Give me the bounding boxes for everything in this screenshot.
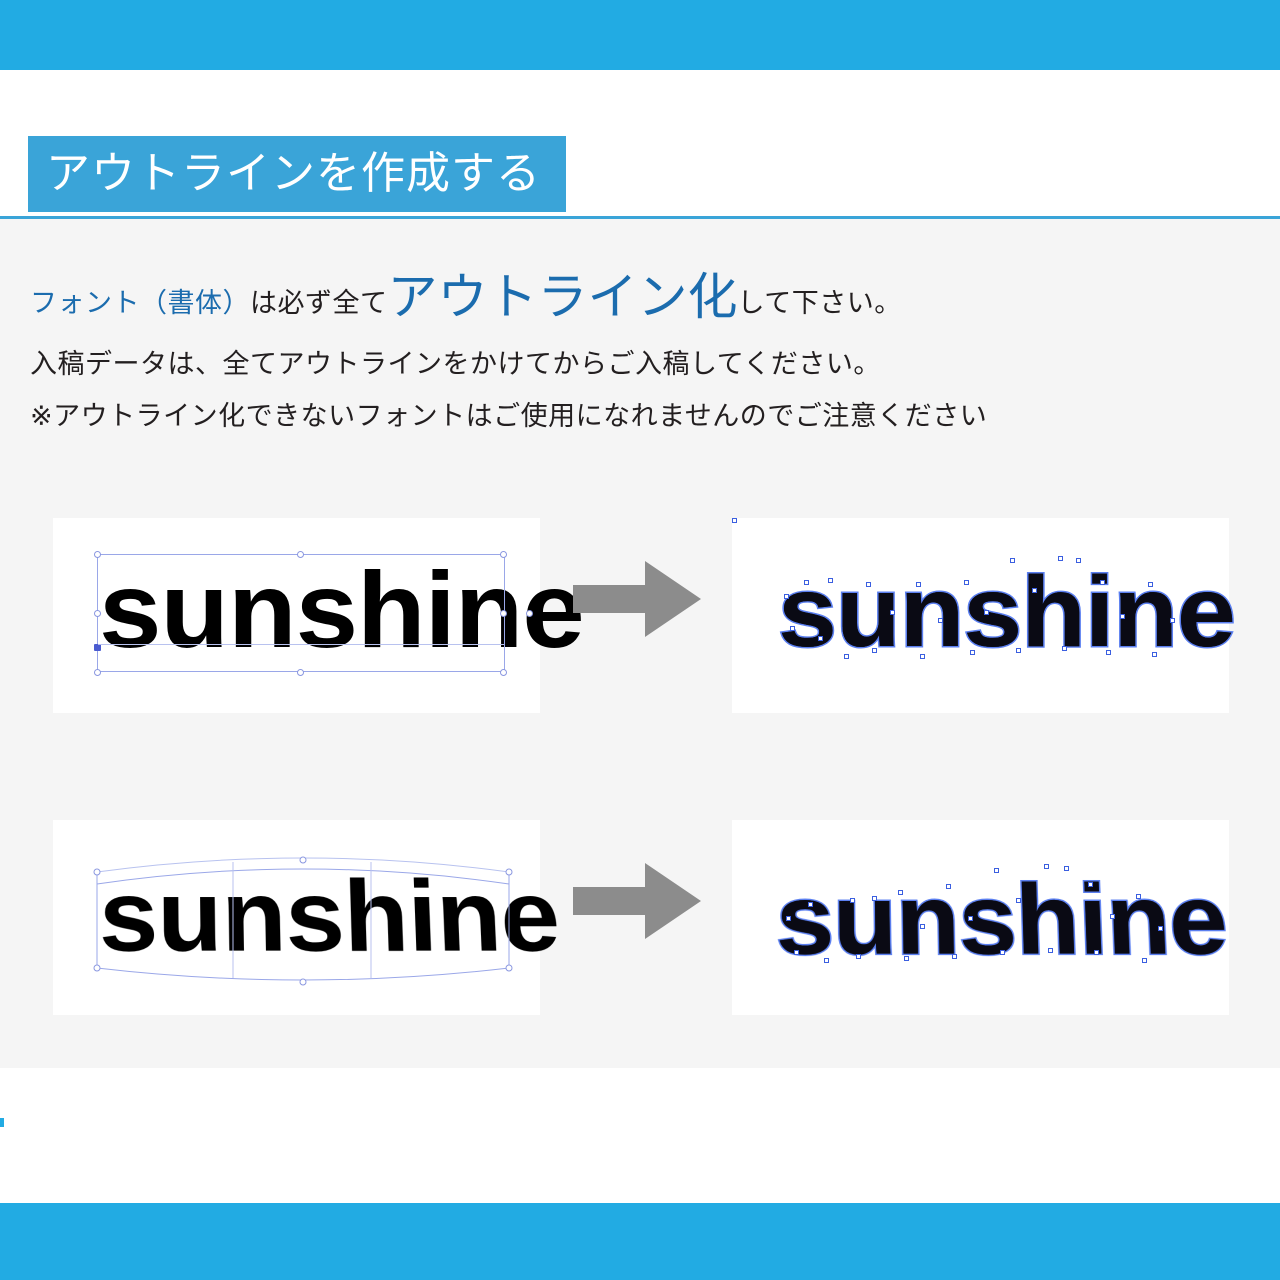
vector-anchor-point[interactable] [790,626,795,631]
selection-handle-bottom-center[interactable] [297,669,304,676]
vector-anchor-point[interactable] [818,636,823,641]
selection-handle-top-left[interactable] [94,551,101,558]
vector-anchor-point[interactable] [890,610,895,615]
selection-handle-top-center[interactable] [297,551,304,558]
vector-anchor-point[interactable] [828,578,833,583]
headline-part-1: フォント（書体） [30,281,250,320]
headline: フォント（書体） は必ず全て アウトライン化 して下さい。 [30,255,902,327]
bottom-brand-band [0,1203,1280,1280]
vector-anchor-point[interactable] [872,648,877,653]
vector-anchor-point[interactable] [946,884,951,889]
vector-anchor-point[interactable] [786,916,791,921]
selection-handle-top-right[interactable] [500,551,507,558]
content-panel: フォント（書体） は必ず全て アウトライン化 して下さい。 入稿データは、全てア… [0,219,1280,1068]
vector-anchor-point[interactable] [1076,558,1081,563]
vector-anchor-point[interactable] [1100,580,1105,585]
vector-anchor-point[interactable] [856,954,861,959]
edge-speck-artifact [0,1118,4,1127]
headline-part-4: して下さい。 [738,281,902,320]
warp-envelope-mesh[interactable] [93,850,513,990]
vector-anchor-point[interactable] [1062,646,1067,651]
example-card-row2-before: sunshine [53,820,540,1015]
vector-anchor-point[interactable] [920,924,925,929]
selection-baseline-guide [98,644,504,645]
vector-anchor-point[interactable] [1148,582,1153,587]
selection-handle-mid-far-right[interactable] [526,610,533,617]
arrow-right-icon [573,561,701,637]
top-brand-band [0,0,1280,70]
vector-anchor-point[interactable] [1000,950,1005,955]
selection-bounding-box[interactable] [97,554,505,672]
vector-anchor-point[interactable] [898,890,903,895]
vector-anchor-point[interactable] [866,582,871,587]
vector-anchor-point[interactable] [984,610,989,615]
vector-anchor-point[interactable] [920,654,925,659]
vector-anchor-point[interactable] [968,916,973,921]
vector-anchor-point[interactable] [808,902,813,907]
vector-anchor-point[interactable] [1048,948,1053,953]
vector-anchor-point[interactable] [1016,898,1021,903]
vector-anchor-point[interactable] [964,580,969,585]
selection-handle-mid-right[interactable] [500,610,507,617]
vector-anchor-point[interactable] [1044,864,1049,869]
vector-anchor-point[interactable] [1106,650,1111,655]
vector-anchor-point[interactable] [1016,648,1021,653]
vector-anchor-point[interactable] [1032,588,1037,593]
vector-anchor-point[interactable] [1064,866,1069,871]
vector-anchor-point[interactable] [1158,926,1163,931]
selection-anchor-baseline[interactable] [94,644,101,651]
vector-anchor-point[interactable] [1110,914,1115,919]
vector-anchor-point[interactable] [1010,558,1015,563]
example-card-row1-before: sunshine [53,518,540,713]
page-title: アウトラインを作成する [28,152,541,196]
vector-anchor-point[interactable] [824,958,829,963]
section-title-area: アウトラインを作成する [0,136,1280,218]
bottom-white-gap [0,1068,1280,1203]
vector-anchor-point[interactable] [904,956,909,961]
vector-anchor-point[interactable] [732,518,737,523]
body-line-2: ※アウトライン化できないフォントはご使用になれませんのでご注意ください [30,394,987,433]
vector-anchor-point[interactable] [844,654,849,659]
vector-anchor-point[interactable] [1170,618,1175,623]
vector-anchor-point[interactable] [804,580,809,585]
vector-anchor-point[interactable] [1094,950,1099,955]
vector-anchor-point[interactable] [872,896,877,901]
vector-anchor-point[interactable] [952,954,957,959]
headline-part-3: アウトライン化 [388,257,738,329]
vector-anchor-point[interactable] [970,650,975,655]
vector-anchor-point[interactable] [1152,652,1157,657]
outlined-text-group-1: sunshine sunshine [732,518,1229,713]
example-card-row1-after: sunshine sunshine [732,518,1229,713]
vector-anchor-point[interactable] [794,950,799,955]
sample-word-outlined-fill: sunshine [778,562,1235,662]
vector-anchor-point[interactable] [938,618,943,623]
vector-anchor-point[interactable] [850,898,855,903]
selection-handle-bottom-right[interactable] [500,669,507,676]
example-card-row2-after: sunshine sunshine [732,820,1229,1015]
headline-part-2: は必ず全て [250,281,388,320]
vector-anchor-point[interactable] [994,868,999,873]
vector-anchor-point[interactable] [1120,614,1125,619]
vector-anchor-point[interactable] [1088,882,1093,887]
arrow-right-icon [573,863,701,939]
selection-handle-mid-left[interactable] [94,610,101,617]
section-title-box: アウトラインを作成する [28,136,566,212]
vector-anchor-point[interactable] [916,582,921,587]
vector-anchor-point[interactable] [1058,556,1063,561]
body-line-1: 入稿データは、全てアウトラインをかけてからご入稿してください。 [30,342,881,381]
vector-anchor-point[interactable] [1142,958,1147,963]
vector-anchor-point[interactable] [784,594,789,599]
vector-anchor-point[interactable] [1136,894,1141,899]
selection-handle-bottom-left[interactable] [94,669,101,676]
outlined-text-group-2: sunshine sunshine [732,820,1229,1015]
